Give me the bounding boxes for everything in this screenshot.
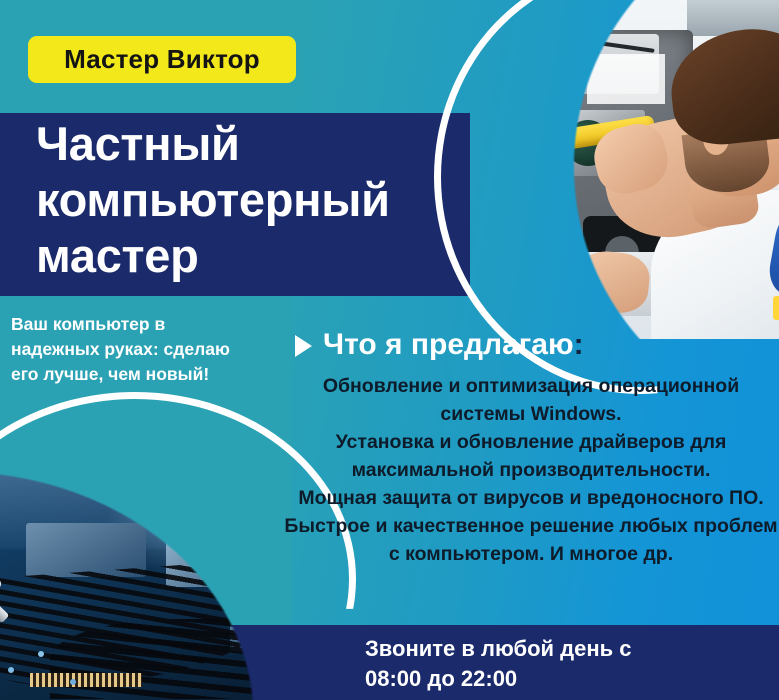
board-pin-header xyxy=(30,673,142,687)
play-triangle-icon xyxy=(295,335,312,357)
service-item: Быстрое и качественное решение любых про… xyxy=(283,512,779,568)
tagline-line-3: его лучше, чем новый! xyxy=(11,362,279,387)
page-title-line-3: мастер xyxy=(36,228,466,284)
service-item: Мощная защита от вирусов и вредоносного … xyxy=(283,484,779,512)
master-name-label: Мастер Виктор xyxy=(64,44,260,75)
page-title: Частный компьютерный мастер xyxy=(36,116,466,284)
page-title-line-1: Частный xyxy=(36,116,466,172)
cta-line-1: Звоните в любой день с xyxy=(365,634,765,664)
offer-heading-label: Что я предлагаю xyxy=(323,328,574,361)
tagline-line-1: Ваш компьютер в xyxy=(11,312,279,337)
circuit-board-photo xyxy=(0,405,330,700)
page-title-line-2: компьютерный xyxy=(36,172,466,228)
service-item: Установка и обновление драйверов для мак… xyxy=(283,428,779,484)
poster-canvas: Мастер Виктор Частный компьютерный масте… xyxy=(0,0,779,700)
photo-motherboard xyxy=(455,88,555,264)
board-ribbon-cables-2 xyxy=(50,619,310,699)
photo-yellow-clip xyxy=(773,296,779,320)
offer-heading: Что я предлагаю: xyxy=(295,328,584,362)
offer-heading-text: Что я предлагаю: xyxy=(323,328,584,362)
master-name-badge: Мастер Виктор xyxy=(28,36,296,83)
tagline: Ваш компьютер в надежных руках: сделаю е… xyxy=(11,312,279,387)
tagline-line-2: надежных руках: сделаю xyxy=(11,337,279,362)
services-list: Обновление и оптимизация операционной си… xyxy=(283,372,779,568)
service-item: Обновление и оптимизация операционной си… xyxy=(283,372,779,428)
call-to-action: Звоните в любой день с 08:00 до 22:00 xyxy=(365,634,765,694)
technician-photo xyxy=(455,0,779,339)
cta-line-2: 08:00 до 22:00 xyxy=(365,664,765,694)
photo-bracket-b xyxy=(587,54,665,104)
offer-heading-colon: : xyxy=(574,328,584,361)
